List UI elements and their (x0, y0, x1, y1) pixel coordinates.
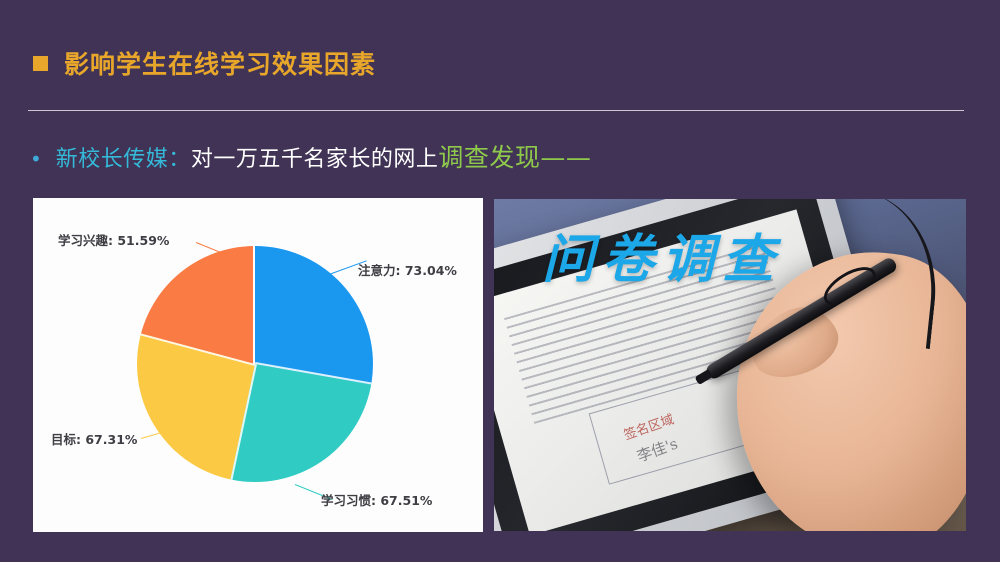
square-bullet-icon (33, 56, 48, 71)
slide: 影响学生在线学习效果因素 • 新校长传媒： 对一万五千名家长的网上 调查发现——… (0, 0, 1000, 562)
pie-chart (137, 246, 373, 482)
questionnaire-photo: 签名区域 李佳's 问卷调查 (494, 199, 966, 531)
page-title: 影响学生在线学习效果因素 (33, 45, 376, 81)
pie-disc (137, 246, 373, 482)
bullet-source-text: 新校长传媒： (56, 141, 191, 173)
pie-label-interest: 学习兴趣: 51.59% (58, 230, 169, 249)
bullet-highlight-text: 调查发现—— (438, 138, 591, 174)
pie-label-attention: 注意力: 73.04% (358, 260, 457, 279)
title-text: 影响学生在线学习效果因素 (64, 45, 376, 81)
bullet-dot-icon: • (30, 149, 42, 169)
photo-overlay-caption: 问卷调查 (542, 217, 782, 292)
pie-chart-panel: 学习兴趣: 51.59% 注意力: 73.04% 目标: 67.31% 学习习惯… (33, 198, 483, 532)
title-divider (28, 110, 964, 111)
bullet-middle-text: 对一万五千名家长的网上 (191, 141, 439, 173)
pie-label-habit: 学习习惯: 67.51% (321, 490, 432, 509)
pie-label-goal: 目标: 67.31% (51, 429, 137, 448)
bullet-line: • 新校长传媒： 对一万五千名家长的网上 调查发现—— (30, 138, 591, 174)
